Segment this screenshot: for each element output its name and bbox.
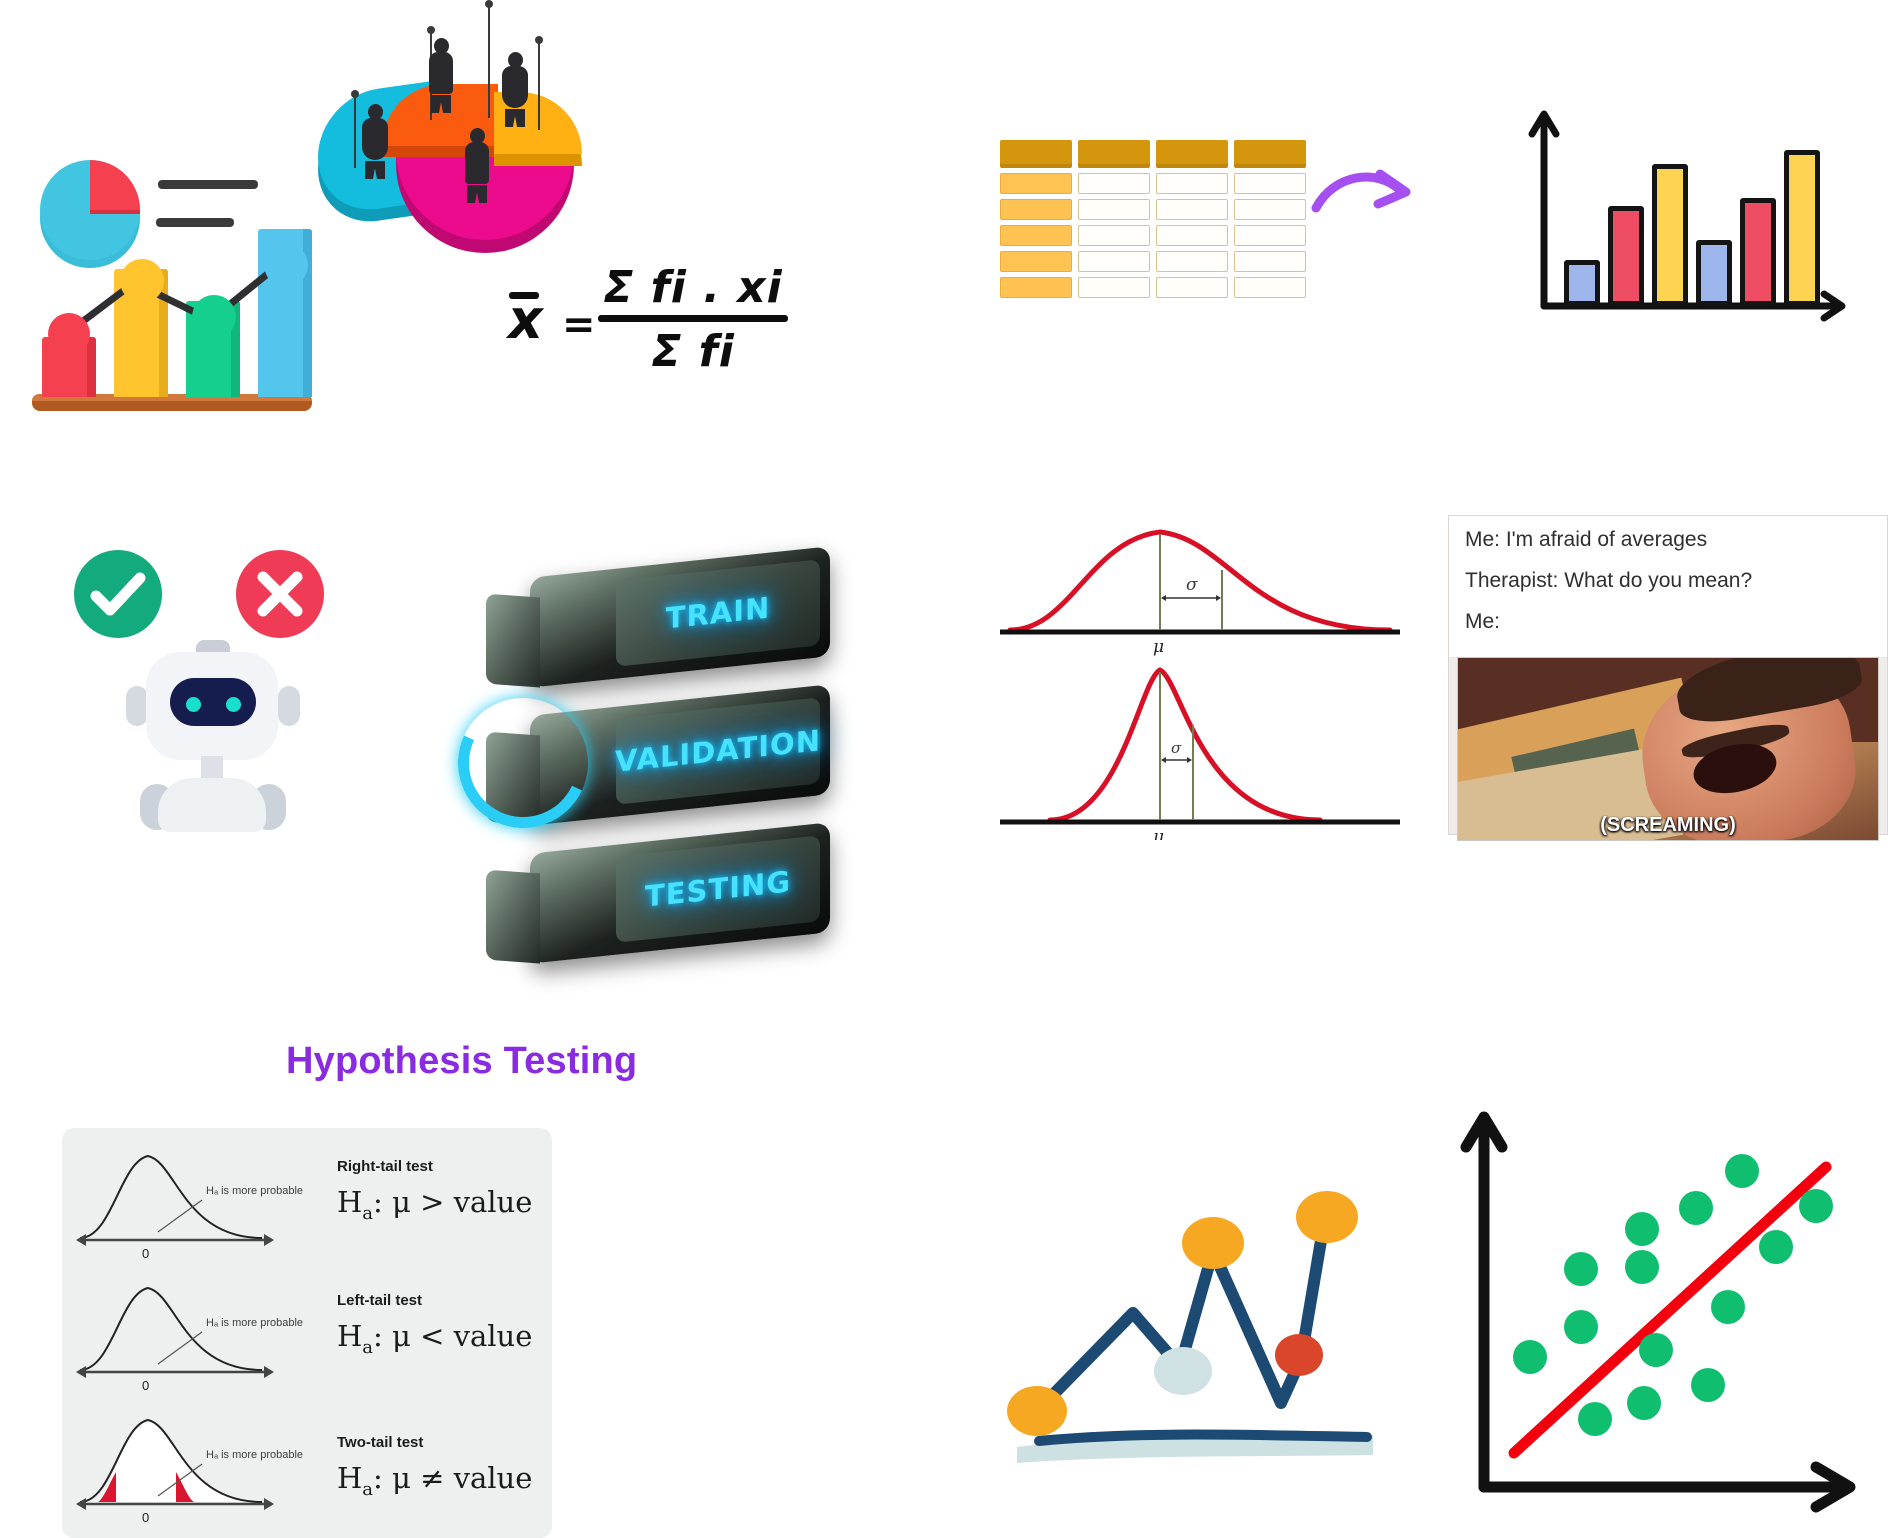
axis-zero-right: 0 [142,1246,149,1261]
table-header-row [1000,140,1306,168]
page-title: Hypothesis Testing [286,1040,746,1083]
table-cell [1078,251,1150,272]
x-bar-symbol: x [508,288,543,351]
left-tail-label: Left-tail test Ha: μ < value [337,1292,532,1358]
split-block-label: VALIDATION [615,723,821,779]
meme-caption: (SCREAMING) [1458,814,1878,837]
meme-text: Me: I'm afraid of averages Therapist: Wh… [1449,516,1887,657]
sketch-bar [1652,164,1688,306]
robot-eye-right [226,697,241,712]
table-cell [1156,173,1228,194]
h-symbol: H [337,1185,362,1219]
scatter-with-regression [1450,1095,1890,1525]
table-cell [1078,225,1150,246]
mu-label-wide: μ [1153,637,1164,657]
equals-sign: = [562,302,596,348]
table-cell-key [1000,251,1072,272]
annotation-two: Hₐ is more probable [206,1449,303,1461]
test-equation: Ha: μ ≠ value [337,1461,532,1500]
h-subscript: a [362,1479,373,1500]
axis-zero-left: 0 [142,1378,149,1393]
hypothesis-row-left-tail: Hₐ is more probable 0 Left-tail test Ha:… [62,1268,552,1396]
annotation-left: Hₐ is more probable [206,1317,303,1329]
test-equation: Ha: μ > value [337,1185,532,1224]
two-tail-curve: Hₐ is more probable 0 [72,1406,322,1526]
person-figure [464,128,490,203]
robot-ear-right [278,686,300,726]
table-cell [1156,251,1228,272]
h-subscript: a [362,1203,373,1224]
numerator: Σ fi . xi [598,262,788,313]
data-point-orange [1296,1191,1358,1243]
table-cell [1234,199,1306,220]
trend-point [192,295,236,339]
table-cell-key [1000,225,1072,246]
table-cell [1156,225,1228,246]
left-tail-curve: Hₐ is more probable 0 [72,1274,322,1394]
curved-arrow-icon [1310,160,1420,230]
hand-drawn-bar-chart [1520,110,1860,340]
train-validation-test-split: TRAIN VALIDATION TESTING [470,548,890,1018]
right-tail-label: Right-tail test Ha: μ > value [337,1158,532,1224]
averages-meme: Me: I'm afraid of averages Therapist: Wh… [1448,515,1888,835]
scatter-points [1513,1154,1833,1436]
fraction: Σ fi . xi Σ fi [598,262,788,377]
h-expression: : μ ≠ value [373,1461,532,1495]
data-point-light [1154,1347,1212,1395]
meme-photo: (SCREAMING) [1457,657,1879,841]
table-cell [1156,277,1228,298]
table-cell-key [1000,199,1072,220]
table-cell [1078,173,1150,194]
sigma-label-narrow: σ [1171,739,1182,757]
h-symbol: H [337,1319,362,1353]
table-cell [1078,199,1150,220]
test-title: Right-tail test [337,1158,532,1175]
mean-formula: x = Σ fi . xi Σ fi [500,252,800,392]
robot-body [158,778,266,832]
check-circle-icon [74,550,162,638]
split-block-label: TRAIN [666,591,771,636]
table-header-cell [1234,140,1306,168]
normal-distributions: σ μ σ μ [990,510,1410,840]
robot-eye-left [186,697,201,712]
two-tail-label: Two-tail test Ha: μ ≠ value [337,1434,532,1500]
robot-avatar [118,638,308,828]
table-cell-key [1000,277,1072,298]
hypothesis-row-two-tail: Hₐ is more probable 0 Two-tail test Ha: … [62,1400,552,1528]
pin-marker [538,42,540,130]
h-expression: : μ > value [373,1185,532,1219]
right-tail-curve: Hₐ is more probable 0 [72,1142,322,1262]
frequency-table [1000,140,1306,320]
trend-point [264,243,308,287]
sketch-bar [1696,240,1732,306]
fraction-rule [598,315,788,322]
hypothesis-row-right-tail: Hₐ is more probable 0 Right-tail test Ha… [62,1136,552,1264]
flat-bar-group [30,225,330,415]
sigma-label-wide: σ [1186,575,1198,595]
mu-label-narrow: μ [1153,827,1164,840]
flat-statistics-illustration [30,140,330,415]
split-block-label: TESTING [645,864,791,913]
trend-point [120,259,164,303]
h-symbol: H [337,1461,362,1495]
pin-marker [488,6,490,118]
accept-reject-robot [60,540,360,830]
h-expression: : μ < value [373,1319,532,1353]
sketch-bar [1784,150,1820,306]
table-row [1000,251,1306,272]
table-cell [1234,251,1306,272]
robot-visor [170,678,256,726]
person-figure [428,38,454,113]
table-cell-key [1000,173,1072,194]
meme-line: Me: [1465,610,1871,634]
hypothesis-tests-panel: Hₐ is more probable 0 Right-tail test Ha… [62,1128,552,1538]
h-subscript: a [362,1337,373,1358]
table-header-cell [1000,140,1072,168]
table-row [1000,225,1306,246]
legend-line-1 [158,180,258,189]
annotation-right: Hₐ is more probable [206,1185,303,1197]
hand-drawn-zigzag-chart [1005,1155,1405,1525]
table-header-cell [1156,140,1228,168]
data-point-orange [1007,1386,1067,1436]
person-figure [362,104,388,179]
meme-line: Therapist: What do you mean? [1465,569,1871,593]
split-block-testing[interactable]: TESTING [530,822,830,964]
test-title: Two-tail test [337,1434,532,1451]
x-circle-icon [236,550,324,638]
trend-point [48,313,90,355]
table-cell [1234,277,1306,298]
table-cell [1234,225,1306,246]
table-cell [1156,199,1228,220]
meme-line: Me: I'm afraid of averages [1465,528,1871,552]
table-cell [1234,173,1306,194]
pin-marker [354,96,356,168]
loading-ring-icon [440,680,607,847]
data-point-red [1275,1334,1323,1376]
test-title: Left-tail test [337,1292,532,1309]
table-header-cell [1078,140,1150,168]
test-equation: Ha: μ < value [337,1319,532,1358]
data-point-orange [1182,1217,1244,1269]
sketch-bar [1740,198,1776,306]
person-figure [502,52,528,127]
3d-pie-with-people [318,0,598,280]
split-block-train[interactable]: TRAIN [530,546,830,688]
denominator: Σ fi [598,326,788,377]
table-row [1000,173,1306,194]
table-row [1000,277,1306,298]
robot-ear-left [126,686,148,726]
axis-zero-two: 0 [142,1510,149,1525]
table-cell [1078,277,1150,298]
table-row [1000,199,1306,220]
sketch-bar [1608,206,1644,306]
sketch-bar [1564,260,1600,306]
